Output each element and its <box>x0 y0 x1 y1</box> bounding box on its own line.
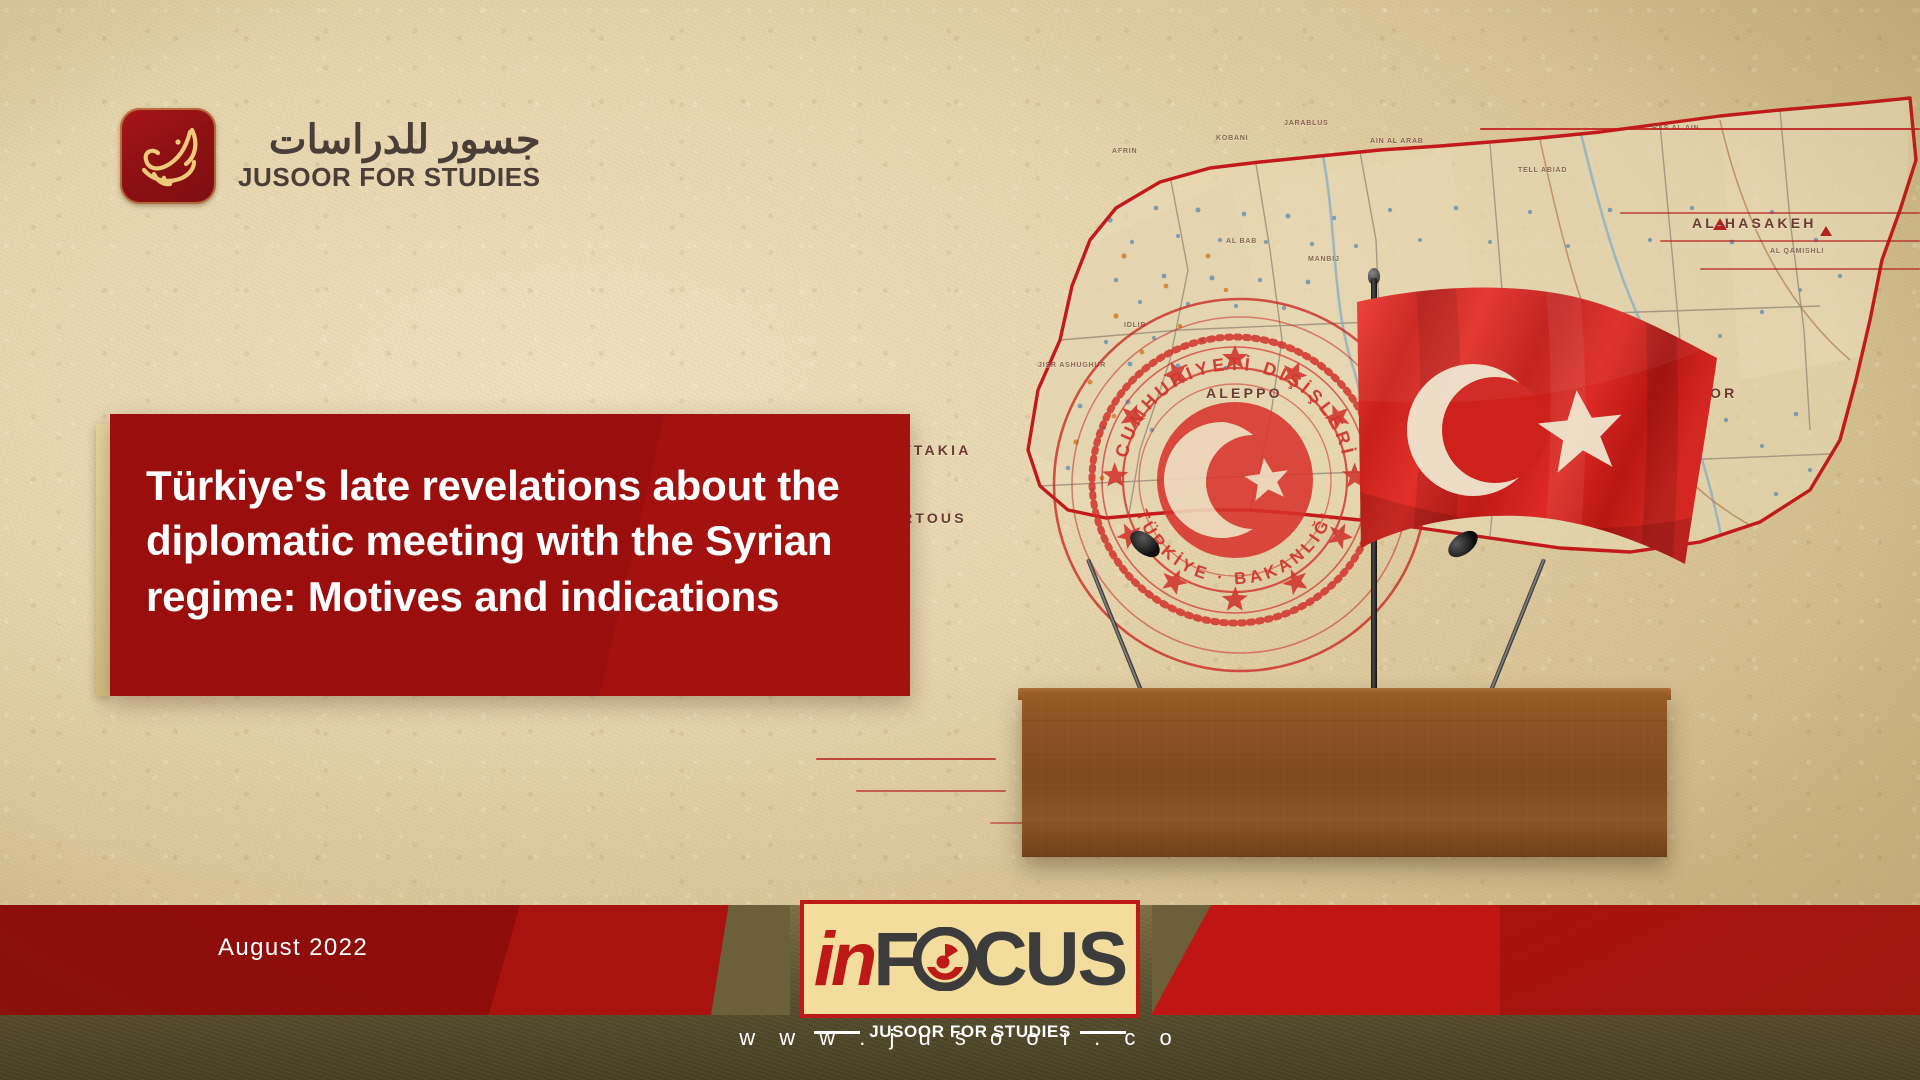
title-line-3: regime: Motives and indications <box>146 569 870 624</box>
publication-date: August 2022 <box>218 934 368 962</box>
infocus-f-text: F <box>873 916 916 1003</box>
infocus-us-text: US <box>1025 916 1127 1003</box>
infocus-c-text: C <box>973 916 1025 1003</box>
infocus-wordmark: in F C US <box>814 916 1126 1003</box>
title-line-2: diplomatic meeting with the Syrian <box>146 513 870 568</box>
infocus-logo[interactable]: in F C US <box>800 900 1140 1018</box>
poster-canvas: ALEPPO AR-RAQQA AL-HASAKEH LATTAKIA TART… <box>0 0 1920 1080</box>
title-line-1: Türkiye's late revelations about the <box>146 458 870 513</box>
aperture-target-icon <box>913 927 977 991</box>
infocus-in-text: in <box>814 916 874 1003</box>
page-title: Türkiye's late revelations about the dip… <box>110 414 910 624</box>
website-url[interactable]: w w w . j u s o o r . c o <box>0 1025 1920 1051</box>
